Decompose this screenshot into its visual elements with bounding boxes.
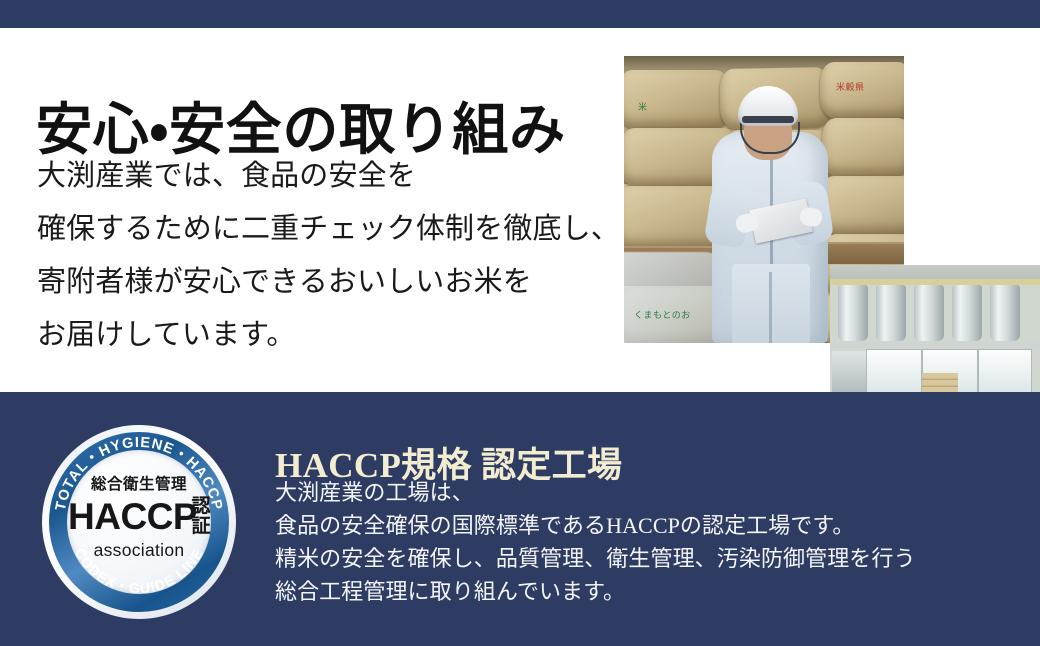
rice-sack [624,70,730,128]
upper-section: 安心・安全の取り組み 大渕産業では、食品の安全を 確保するために二重チェック体制… [0,28,1040,392]
intro-line-4: お届けしています。 [37,309,620,362]
haccp-line-2: 食品の安全確保の国際標準であるHACCPの認定工場です。 [275,509,916,542]
intro-paragraph: 大渕産業では、食品の安全を 確保するために二重チェック体制を徹底し、 寄附者様が… [37,150,620,362]
storage-silo [838,285,868,341]
seal-arc-text: TOTAL・HYGIENE・HACCP CODEX・GUIDE LINE [42,425,236,619]
storage-silo [990,285,1020,341]
storage-silo [876,285,906,341]
sack-label-red: 米穀県 [836,80,865,93]
sack-label: くまもとのお [634,308,691,321]
haccp-paragraph: 大渕産業の工場は、 食品の安全確保の国際標準であるHACCPの認定工場です。 精… [275,476,916,608]
haccp-line-3: 精米の安全を確保し、品質管理、衛生管理、汚染防御管理を行う [275,542,916,575]
sack-label: 米 [638,100,648,113]
storage-silo [914,285,944,341]
storage-silo [952,285,982,341]
svg-text:CODEX・GUIDE LINE: CODEX・GUIDE LINE [72,545,207,596]
haccp-section: TOTAL・HYGIENE・HACCP CODEX・GUIDE LINE 総合衛… [0,392,1040,646]
promo-banner: 安心・安全の取り組み 大渕産業では、食品の安全を 確保するために二重チェック体制… [0,0,1040,646]
intro-line-3: 寄附者様が安心できるおいしいお米を [37,256,620,309]
plant-mid-rail [830,341,1040,349]
rice-sack [822,118,904,176]
seal-arc-top-text: TOTAL・HYGIENE・HACCP [53,435,225,512]
top-navy-rule [0,0,1040,28]
intro-line-1: 大渕産業では、食品の安全を [37,150,620,203]
rice-sack [820,176,904,234]
haccp-certification-seal: TOTAL・HYGIENE・HACCP CODEX・GUIDE LINE 総合衛… [42,425,236,619]
svg-text:TOTAL・HYGIENE・HACCP: TOTAL・HYGIENE・HACCP [53,435,225,512]
intro-line-2: 確保するために二重チェック体制を徹底し、 [37,203,620,256]
haccp-line-4: 総合工程管理に取り組んでいます。 [275,575,916,608]
worker-legs [732,264,810,343]
seal-arc-bottom-text: CODEX・GUIDE LINE [72,545,207,596]
haccp-line-1: 大渕産業の工場は、 [275,476,916,509]
